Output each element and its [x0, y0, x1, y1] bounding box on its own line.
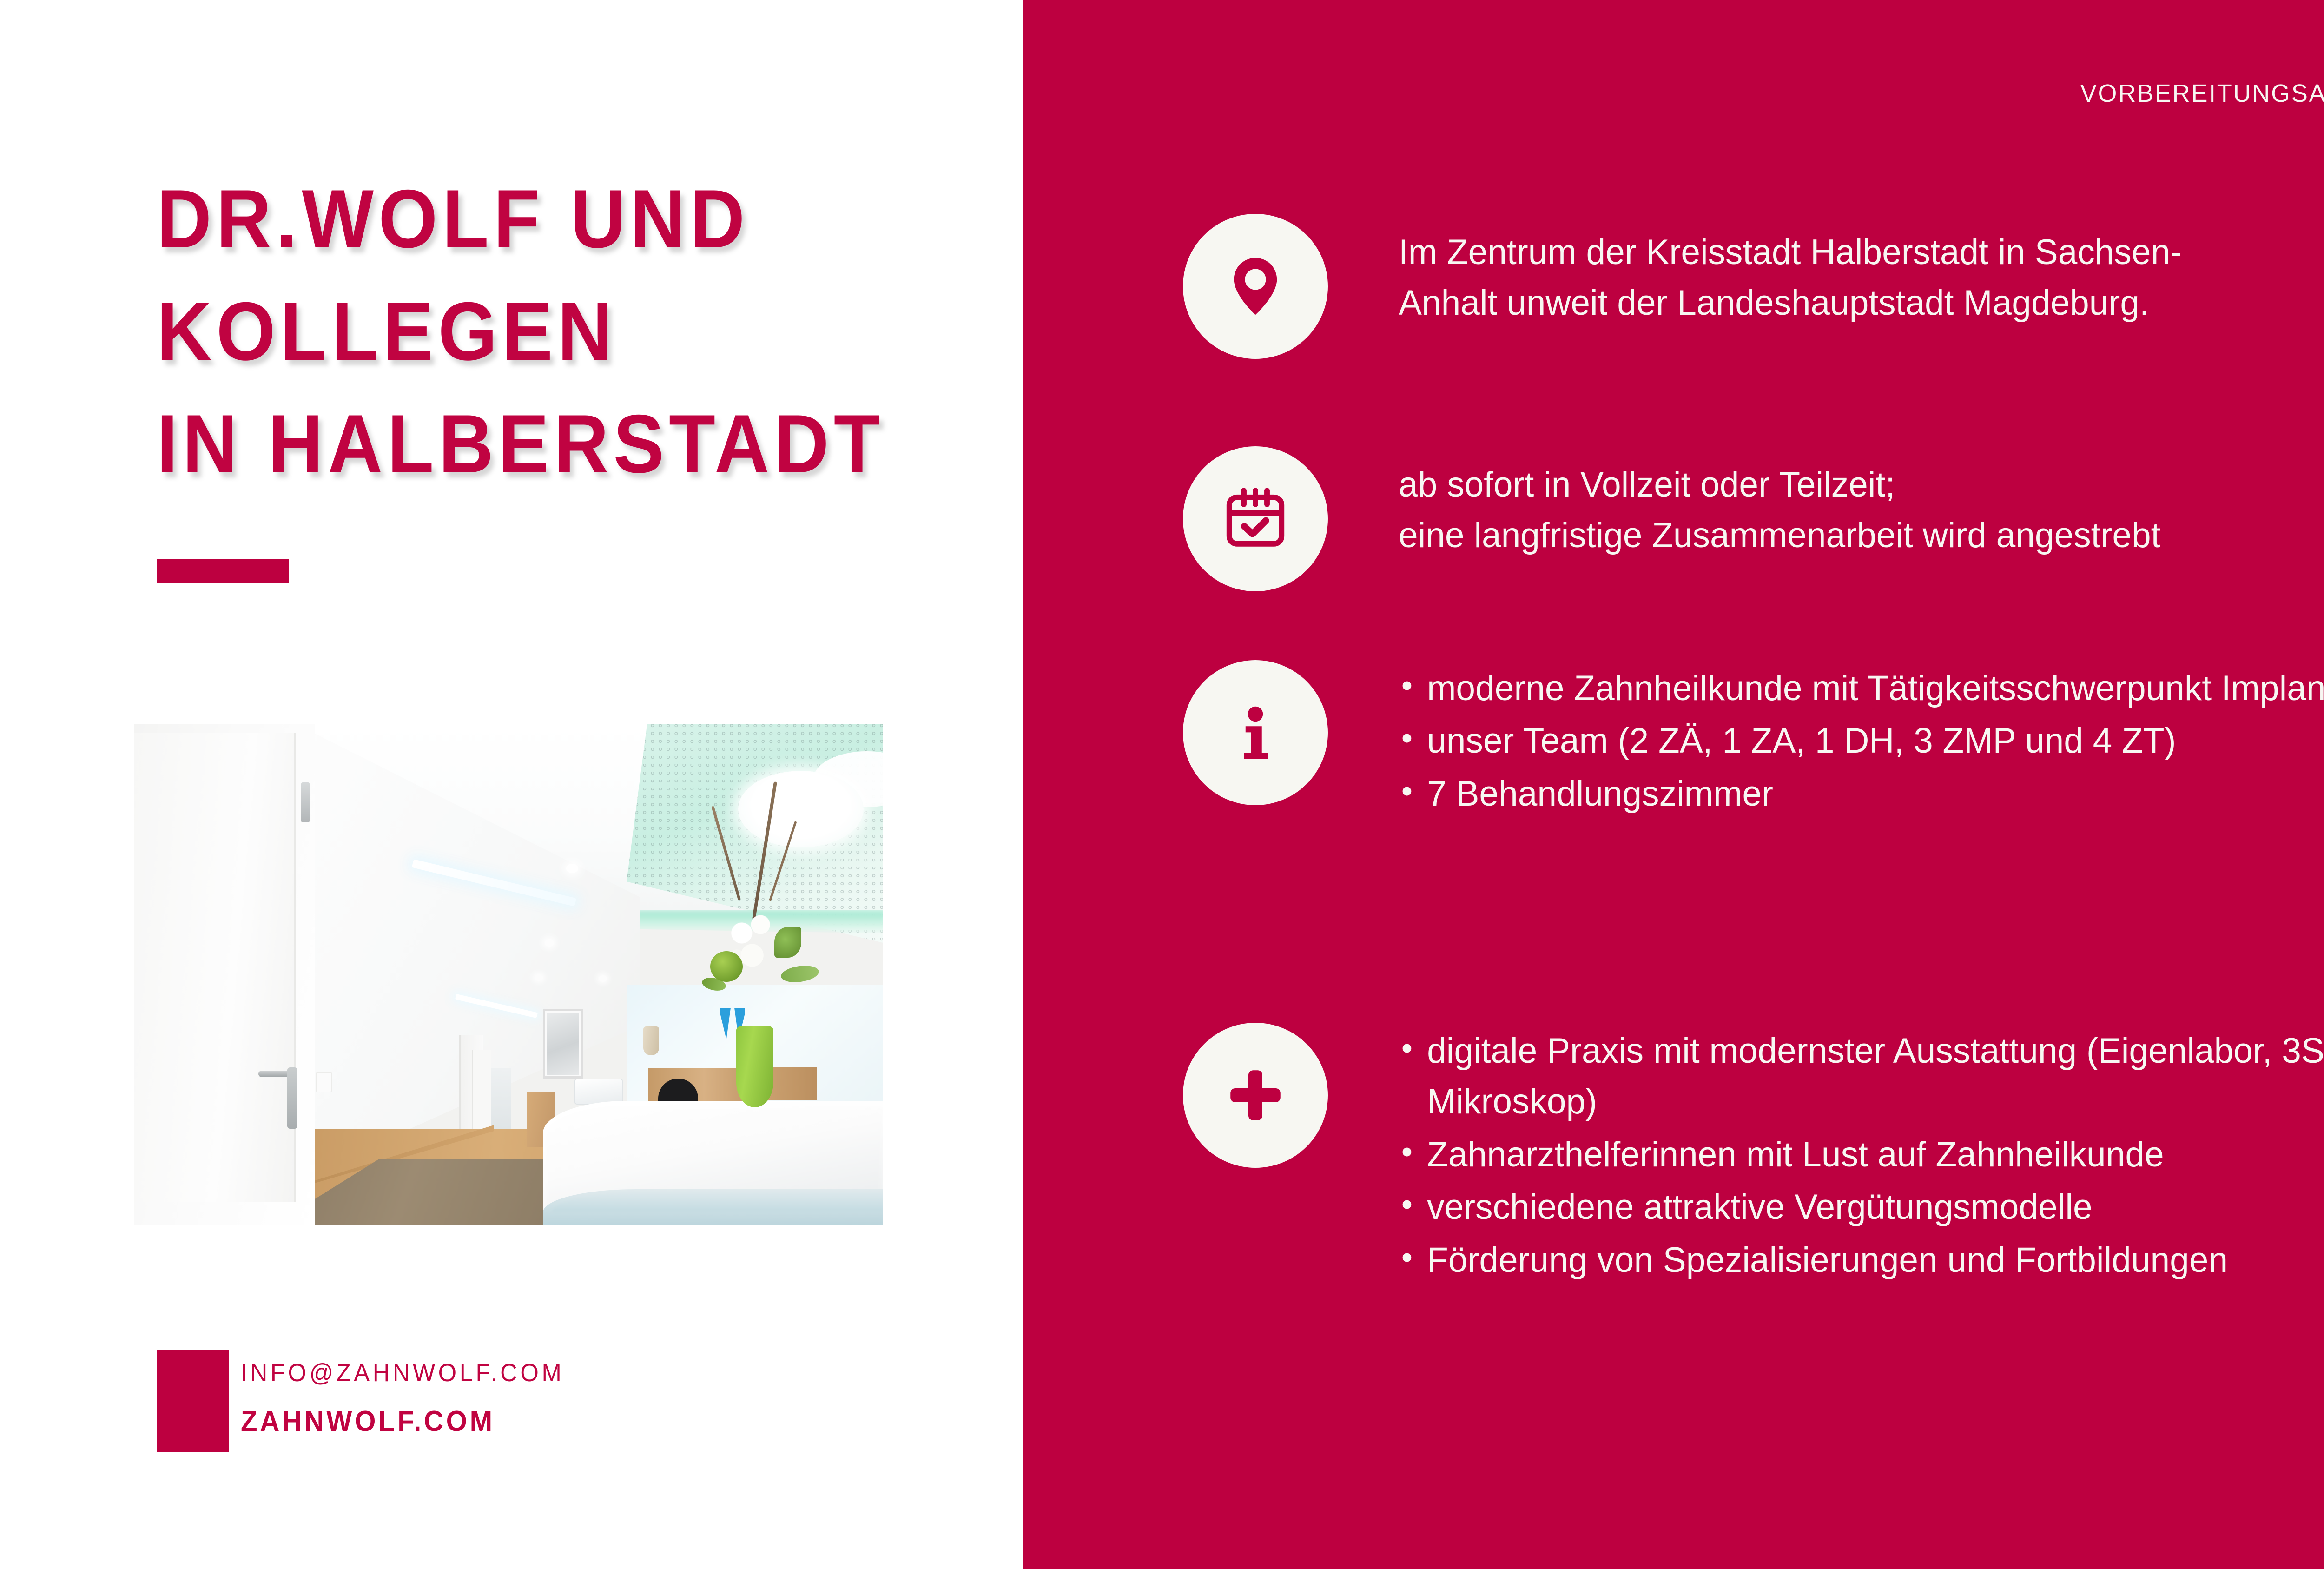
photo-far-door	[472, 1050, 491, 1138]
photo-door	[134, 733, 296, 1202]
photo-corridor-end	[490, 1068, 511, 1133]
job-title-eyebrow: VORBEREITUNGSASSISTENT:IN GESUCHT!	[2080, 79, 2324, 108]
photo-leaf	[780, 963, 820, 984]
info-row-availability: ab sofort in Vollzeit oder Teilzeit; ein…	[1183, 446, 2172, 591]
list-item: 7 Behandlungszimmer	[1399, 768, 2324, 819]
calendar-check-icon	[1183, 446, 1328, 591]
plus-icon	[1183, 1023, 1328, 1168]
photo-green-flower	[710, 951, 743, 982]
info-row-location: Im Zentrum der Kreisstadt Halberstadt in…	[1183, 214, 2194, 359]
photo-spotlight	[566, 864, 578, 873]
photo-spotlight	[545, 939, 554, 947]
left-panel: DR.WOLF UND KOLLEGEN IN HALBERSTADT	[0, 0, 1023, 1569]
job-ad-poster: DR.WOLF UND KOLLEGEN IN HALBERSTADT	[0, 0, 2324, 1569]
list-item: unser Team (2 ZÄ, 1 ZA, 1 DH, 3 ZMP und …	[1399, 715, 2324, 766]
info-row-availability-text: ab sofort in Vollzeit oder Teilzeit; ein…	[1399, 446, 2160, 561]
info-row-practice-list: moderne Zahnheilkunde mit Tätigkeitsschw…	[1399, 660, 2324, 821]
photo-counter-front	[543, 1189, 883, 1225]
list-item: moderne Zahnheilkunde mit Tätigkeitsschw…	[1399, 663, 2324, 714]
right-panel: VORBEREITUNGSASSISTENT:IN GESUCHT! Im Ze…	[1023, 0, 2324, 1569]
photo-light-switch	[316, 1072, 332, 1092]
location-pin-icon	[1183, 214, 1328, 359]
photo-door-hinge	[301, 782, 310, 822]
photo-orchid	[639, 998, 666, 1026]
list-item: verschiedene attraktive Vergütungsmodell…	[1399, 1182, 2324, 1232]
photo-leaf	[774, 927, 801, 958]
contact-website[interactable]: ZAHNWOLF.COM	[241, 1405, 495, 1438]
photo-spotlight	[599, 975, 607, 982]
photo-spotlight	[535, 974, 543, 981]
info-row-location-text: Im Zentrum der Kreisstadt Halberstadt in…	[1399, 214, 2182, 329]
photo-door-lock-plate	[287, 1067, 297, 1129]
list-item: Zahnarzthelferinnen mit Lust auf Zahnhei…	[1399, 1129, 2324, 1180]
brand-block-accent	[157, 1350, 229, 1452]
list-item: digitale Praxis mit modernster Ausstattu…	[1399, 1026, 2324, 1127]
info-row-practice: moderne Zahnheilkunde mit Tätigkeitsschw…	[1183, 660, 2324, 821]
photo-orchid-vase	[643, 1026, 659, 1055]
list-item: Förderung von Spezialisierungen und Fort…	[1399, 1235, 2324, 1285]
info-row-offer: digitale Praxis mit modernster Ausstattu…	[1183, 1023, 2324, 1287]
title-divider-rule	[157, 559, 289, 583]
contact-email[interactable]: INFO@ZAHNWOLF.COM	[241, 1358, 564, 1387]
photo-wall-picture	[547, 1013, 579, 1075]
page-title: DR.WOLF UND KOLLEGEN IN HALBERSTADT	[157, 163, 905, 500]
practice-photo	[134, 724, 883, 1225]
photo-skylight-primary	[738, 771, 864, 847]
info-row-offer-list: digitale Praxis mit modernster Ausstattu…	[1399, 1023, 2324, 1287]
info-icon	[1183, 660, 1328, 805]
photo-green-vase	[736, 1026, 773, 1107]
